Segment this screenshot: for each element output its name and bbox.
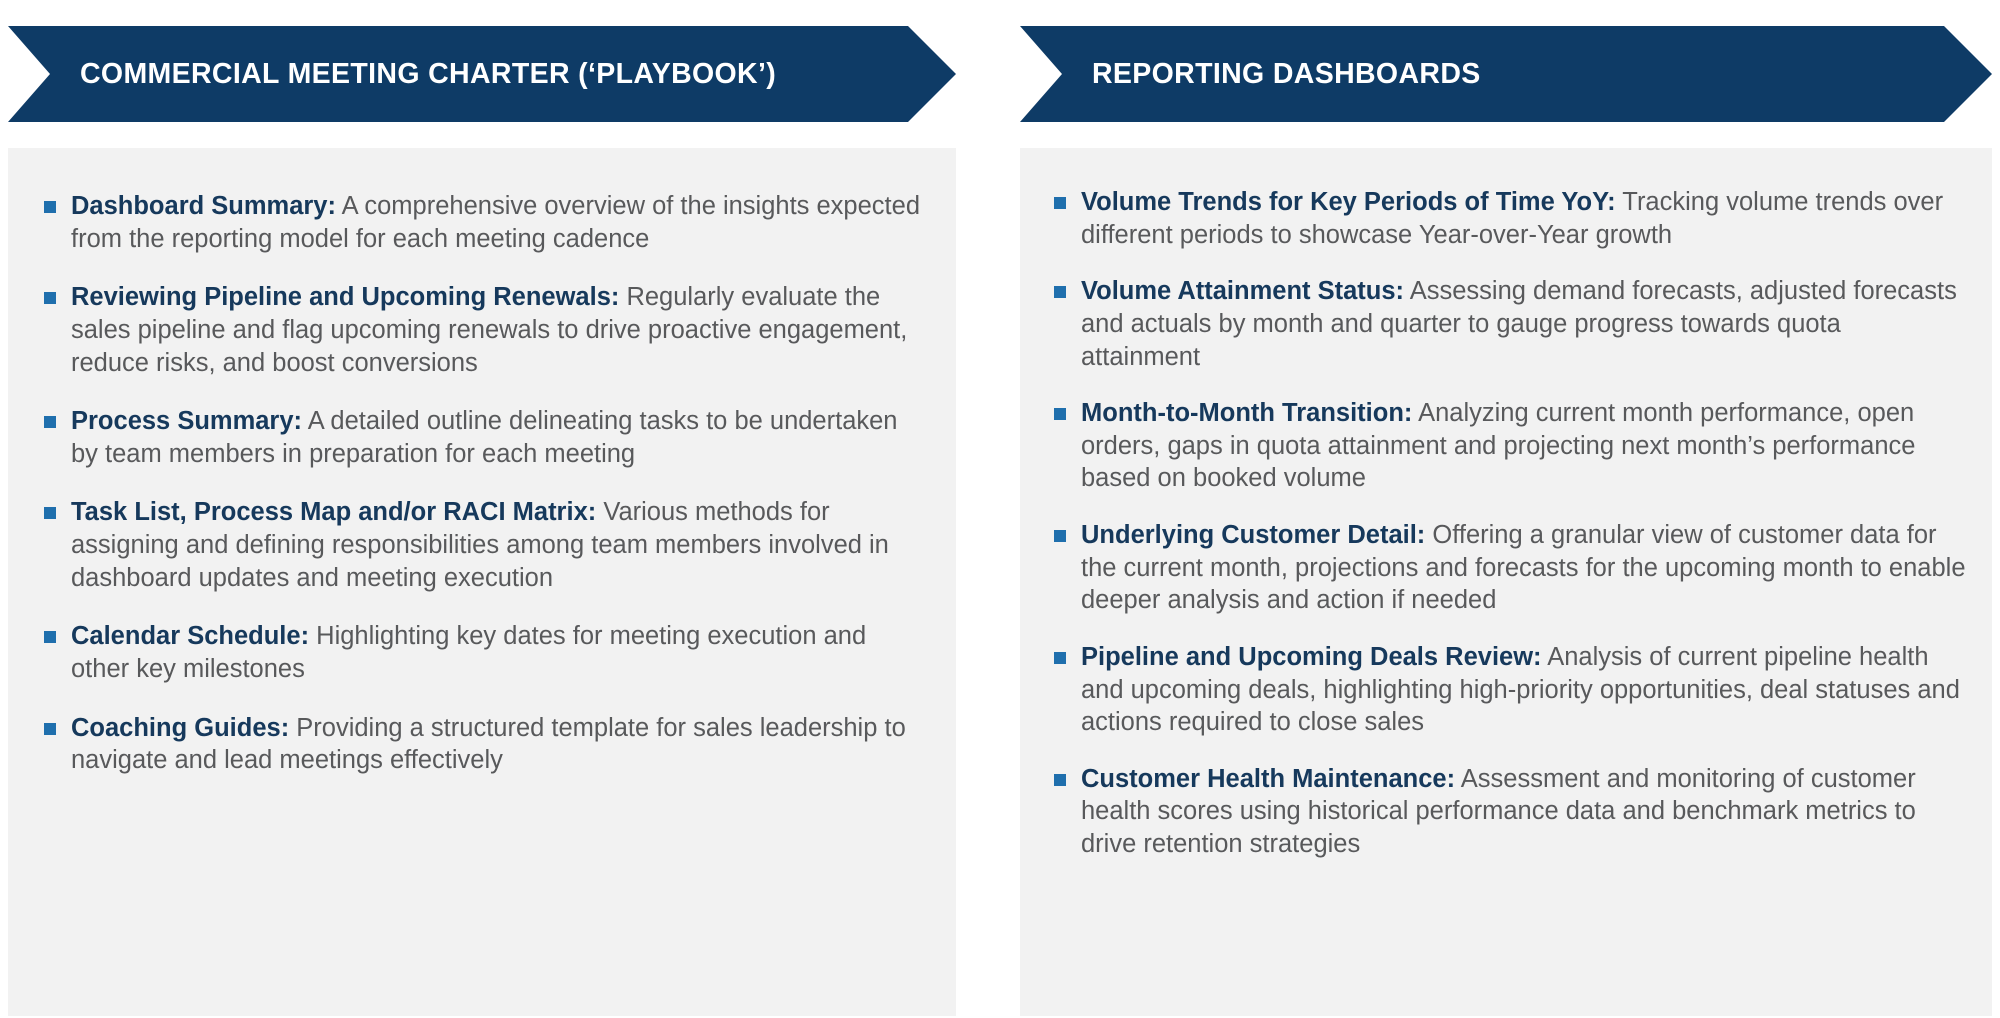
infographic-board: COMMERCIAL MEETING CHARTER (‘PLAYBOOK’) …	[0, 0, 2000, 1018]
list-item-term: Reviewing Pipeline and Upcoming Renewals…	[71, 283, 619, 311]
list-item: Volume Attainment Status: Assessing dema…	[1048, 275, 1966, 373]
list-item-term: Customer Health Maintenance:	[1081, 765, 1455, 793]
list-item: Volume Trends for Key Periods of Time Yo…	[1048, 186, 1966, 251]
panel-reporting-dashboards: Volume Trends for Key Periods of Time Yo…	[1020, 148, 1992, 1016]
banner-commercial-meeting-charter: COMMERCIAL MEETING CHARTER (‘PLAYBOOK’)	[8, 26, 956, 122]
list-item: Process Summary: A detailed outline deli…	[38, 405, 926, 470]
list-item: Reviewing Pipeline and Upcoming Renewals…	[38, 281, 926, 379]
list-item-term: Coaching Guides:	[71, 714, 289, 742]
list-item: Month-to-Month Transition: Analyzing cur…	[1048, 397, 1966, 495]
list-item: Pipeline and Upcoming Deals Review: Anal…	[1048, 641, 1966, 739]
list-item: Customer Health Maintenance: Assessment …	[1048, 763, 1966, 861]
column-reporting-dashboards: REPORTING DASHBOARDS Volume Trends for K…	[1020, 0, 1992, 1016]
column-commercial-meeting-charter: COMMERCIAL MEETING CHARTER (‘PLAYBOOK’) …	[8, 0, 956, 1016]
list-item-term: Task List, Process Map and/or RACI Matri…	[71, 498, 596, 526]
list-item-term: Pipeline and Upcoming Deals Review:	[1081, 643, 1542, 671]
bullet-list-reporting-dashboards: Volume Trends for Key Periods of Time Yo…	[1048, 186, 1966, 861]
list-item-term: Process Summary:	[71, 407, 302, 435]
list-item: Task List, Process Map and/or RACI Matri…	[38, 496, 926, 594]
list-item: Dashboard Summary: A comprehensive overv…	[38, 190, 926, 255]
list-item: Underlying Customer Detail: Offering a g…	[1048, 519, 1966, 617]
list-item-term: Volume Trends for Key Periods of Time Yo…	[1081, 188, 1616, 216]
list-item: Coaching Guides: Providing a structured …	[38, 712, 926, 777]
list-item-term: Month-to-Month Transition:	[1081, 399, 1412, 427]
list-item-term: Underlying Customer Detail:	[1081, 521, 1425, 549]
list-item-term: Calendar Schedule:	[71, 622, 309, 650]
banner-title: REPORTING DASHBOARDS	[1020, 58, 1481, 91]
bullet-list-commercial-meeting-charter: Dashboard Summary: A comprehensive overv…	[38, 190, 926, 777]
banner-title: COMMERCIAL MEETING CHARTER (‘PLAYBOOK’)	[8, 58, 776, 91]
list-item-term: Volume Attainment Status:	[1081, 277, 1404, 305]
list-item-term: Dashboard Summary:	[71, 192, 336, 220]
banner-reporting-dashboards: REPORTING DASHBOARDS	[1020, 26, 1992, 122]
list-item: Calendar Schedule: Highlighting key date…	[38, 620, 926, 685]
panel-commercial-meeting-charter: Dashboard Summary: A comprehensive overv…	[8, 148, 956, 1016]
